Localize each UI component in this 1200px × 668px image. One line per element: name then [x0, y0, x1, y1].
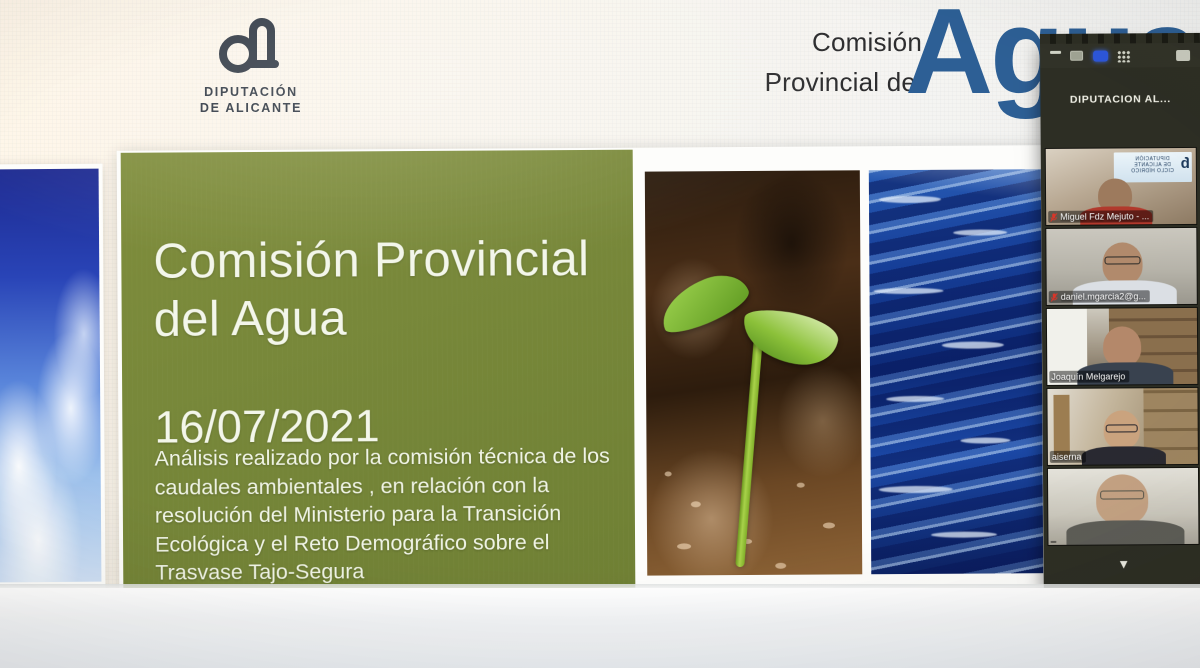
- mic-muted-icon: [1050, 212, 1057, 221]
- diputacion-logo: DIPUTACIÓN DE ALICANTE: [176, 14, 326, 116]
- sprout-soil-photo: [645, 170, 862, 575]
- background-banner-logo-icon: ɓ: [1176, 155, 1190, 175]
- slide-date: 16/07/2021: [154, 401, 380, 452]
- slide-text-panel: Comisión Provincial del Agua 16/07/2021 …: [121, 150, 636, 591]
- slide-body-text: Análisis realizado por la comisión técni…: [154, 442, 617, 587]
- glasses: [1100, 490, 1144, 499]
- glasses: [1106, 424, 1138, 432]
- da-monogram-icon: [216, 14, 286, 76]
- participant-name: Joaquín Melgarejo: [1051, 371, 1125, 382]
- header-band: DIPUTACIÓN DE ALICANTE Comisión Provinci…: [0, 0, 1200, 150]
- mic-muted-icon: [1051, 292, 1058, 301]
- logo-line-2: DE ALICANTE: [176, 100, 326, 116]
- participant-tile[interactable]: daniel.mgarcia2@g...: [1045, 227, 1198, 306]
- participant-name: Miguel Fdz Mejuto - ...: [1060, 211, 1149, 222]
- presentation-slide: Comisión Provincial del Agua 16/07/2021 …: [117, 145, 1048, 593]
- participant-name: aiserna: [1052, 452, 1082, 462]
- header-title-lines: Comisión Provincial del: [765, 22, 922, 102]
- participant-tile[interactable]: Joaquín Melgarejo: [1046, 307, 1199, 386]
- video-toolbar[interactable]: [1040, 43, 1200, 68]
- participant-name-tag: Joaquín Melgarejo: [1049, 370, 1129, 383]
- water-surface: [869, 169, 1043, 574]
- header-title-line-1: Comisión: [765, 22, 922, 62]
- share-screen-icon[interactable]: [1176, 50, 1190, 61]
- glasses: [1104, 256, 1140, 264]
- scroll-down-chevron-icon[interactable]: ▼: [1044, 557, 1200, 571]
- projection-screen-photo: DIPUTACIÓN DE ALICANTE Comisión Provinci…: [0, 0, 1200, 668]
- participant-tile[interactable]: DIPUTACIÓNDE ALICANTECICLO HÍDRICO ɓ Mig…: [1045, 147, 1198, 226]
- background-banner-text: DIPUTACIÓNDE ALICANTECICLO HÍDRICO: [1131, 156, 1174, 174]
- participant-name-tag: [1050, 541, 1056, 543]
- speaker-view-icon[interactable]: [1070, 51, 1083, 61]
- video-window-title: DIPUTACION AL...: [1040, 93, 1200, 106]
- grid-view-icon[interactable]: [1117, 50, 1130, 62]
- participant-name-tag: daniel.mgarcia2@g...: [1049, 290, 1150, 303]
- participant-video: [1048, 468, 1199, 545]
- water-ripples-photo: [869, 169, 1043, 574]
- participant-tile[interactable]: aiserna: [1046, 387, 1199, 466]
- slide-title: Comisión Provincial del Agua: [153, 230, 624, 349]
- participant-name-tag: Miguel Fdz Mejuto - ...: [1048, 210, 1153, 223]
- sky-photo-frame: [0, 164, 105, 589]
- header-title-line-2: Provincial del: [765, 62, 922, 102]
- gallery-view-active-icon[interactable]: [1093, 51, 1108, 62]
- participant-name-tag: aiserna: [1050, 451, 1086, 463]
- video-conference-window[interactable]: DIPUTACION AL... DIPUTACIÓNDE ALICANTECI…: [1040, 43, 1200, 590]
- logo-line-1: DIPUTACIÓN: [176, 84, 326, 100]
- minimize-icon[interactable]: [1050, 51, 1061, 54]
- screen-apron: [0, 588, 1200, 668]
- sky-clouds-photo: [0, 169, 101, 583]
- participant-name: daniel.mgarcia2@g...: [1061, 291, 1146, 302]
- participant-tile[interactable]: [1047, 467, 1200, 546]
